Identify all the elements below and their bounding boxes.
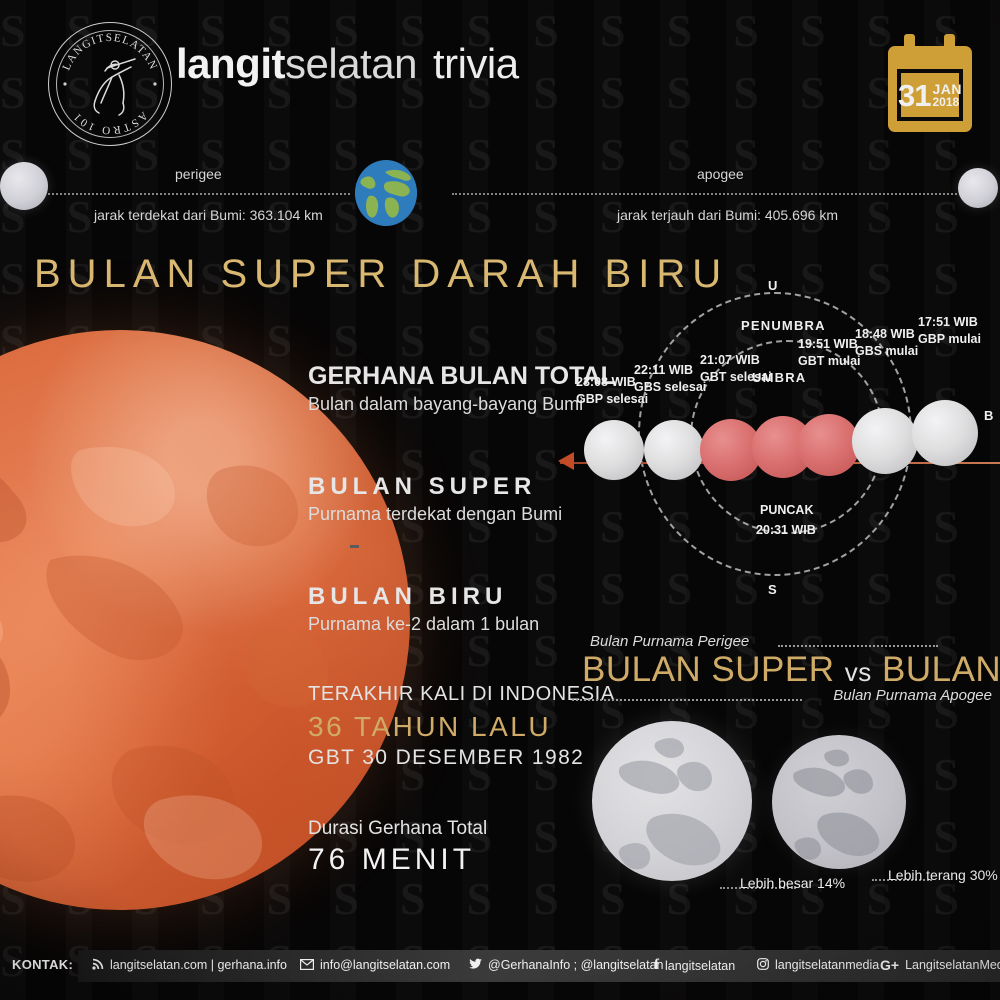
footer-item-label: @GerhanaInfo ; @langitselatan (488, 958, 663, 972)
fact-heading: BULAN BIRU (308, 583, 539, 611)
footer-item-email[interactable]: info@langitselatan.com (300, 958, 450, 972)
brand-title: langitselatantrivia (176, 40, 519, 88)
penumbra-label: PENUMBRA (741, 318, 826, 333)
langitselatan-logo-seal: LANGITSELATAN ASTRO 101 (48, 22, 172, 146)
apogee-caption: jarak terjauh dari Bumi: 405.696 km (617, 207, 838, 223)
axis-label-east: B (984, 408, 994, 423)
fact-subtitle: Purnama ke-2 dalam 1 bulan (308, 614, 539, 635)
calendar-window: 31 JAN 2018 (897, 69, 963, 121)
infographic-poster: SSSSSSSSSSSSSSSSSSSSSSSSSSSSSSSSSSSSSSSS… (0, 0, 1000, 1000)
eclipse-moon-phase-5 (798, 414, 860, 476)
eclipse-moon-phase-2 (644, 420, 704, 480)
google-plus-icon: G+ (880, 958, 899, 972)
calendar-body: 31 JAN 2018 (888, 46, 972, 132)
axis-label-south: S (768, 582, 778, 597)
fact-block-bulan-super: BULAN SUPER Purnama terdekat dengan Bumi (308, 473, 562, 525)
envelope-icon (300, 959, 314, 972)
calendar-month: JAN (932, 82, 962, 96)
footer-item-instagram[interactable]: langitselatanmedia (757, 958, 879, 972)
calendar-icon: 31 JAN 2018 (888, 34, 972, 132)
apogee-dash-line (452, 193, 968, 195)
comparison-title: BULAN SUPER vs BULAN MINI (582, 650, 1000, 690)
perigee-moon-icon (0, 162, 48, 210)
note-left: Lebih besar 14% (740, 875, 845, 891)
rss-icon (92, 958, 104, 972)
footer-item-label: langitselatanmedia (775, 958, 879, 972)
peak-label: PUNCAK (760, 502, 813, 519)
comparison-title-right: BULAN MINI (882, 650, 1000, 689)
comparison-dashed-bottom (572, 699, 802, 701)
brand-bold: langit (176, 40, 285, 87)
phase-label-4: 19:51 WIBGBT mulai (798, 336, 861, 370)
comparison-title-vs: vs (845, 657, 872, 687)
apogee-label: apogee (697, 166, 744, 182)
perigee-apogee-band: perigee jarak terdekat dari Bumi: 363.10… (0, 150, 1000, 240)
phase-label-3: 21:07 WIBGBT selesai (700, 352, 772, 386)
calendar-year: 2018 (932, 96, 962, 108)
perigee-label: perigee (175, 166, 222, 182)
earth-globe-icon (355, 160, 417, 226)
minimoon-disc (772, 735, 906, 869)
footer-item-label: langitselatan.com | gerhana.info (110, 958, 287, 972)
instagram-icon (757, 958, 769, 972)
twitter-icon (468, 958, 482, 972)
phase-label-2: 22:11 WIBGBS selesai (634, 362, 706, 396)
eclipse-moon-phase-1 (584, 420, 644, 480)
footer-item-label: LangitselatanMedia (905, 958, 1000, 972)
footer-contact-bar: KONTAK: langitselatan.com | gerhana.info… (0, 950, 1000, 982)
peak-time: 20:31 WIB (756, 522, 816, 539)
facebook-icon: f (654, 958, 659, 973)
path-arrow-icon (558, 452, 574, 470)
footer-item-googleplus[interactable]: G+ LangitselatanMedia (880, 958, 1000, 972)
svg-text:ASTRO 101: ASTRO 101 (70, 109, 150, 136)
perigee-dash-line (40, 193, 350, 195)
duration-label: Durasi Gerhana Total (308, 818, 487, 840)
fact-block-bulan-biru: BULAN BIRU Purnama ke-2 dalam 1 bulan (308, 583, 539, 635)
duration-value: 76 MENIT (308, 843, 487, 877)
calendar-day: 31 (898, 80, 930, 111)
brand-suffix: trivia (433, 40, 519, 87)
supermoon-disc (592, 721, 752, 881)
footer-item-website[interactable]: langitselatan.com | gerhana.info (92, 958, 287, 972)
comparison-caption-top: Bulan Purnama Perigee (590, 633, 749, 650)
decorative-dash (350, 545, 359, 548)
phase-label-5: 18:48 WIBGBS mulai (855, 326, 918, 360)
axis-label-north: U (768, 278, 778, 293)
comparison-dashed-top (778, 645, 938, 647)
footer-item-label: info@langitselatan.com (320, 958, 450, 972)
brand-light: selatan (285, 40, 417, 87)
eclipse-moon-phase-6 (852, 408, 918, 474)
note-right: Lebih terang 30% (888, 867, 998, 883)
duration-block: Durasi Gerhana Total 76 MENIT (308, 818, 487, 877)
fact-heading: BULAN SUPER (308, 473, 562, 501)
footer-kontak-label: KONTAK: (12, 957, 73, 972)
footer-item-twitter[interactable]: @GerhanaInfo ; @langitselatan (468, 958, 663, 972)
supermoon-vs-minimoon-comparison: Bulan Purnama Perigee BULAN SUPER vs BUL… (560, 625, 1000, 915)
eclipse-moon-phase-7 (912, 400, 978, 466)
phase-label-6: 17:51 WIBGBP mulai (918, 314, 981, 348)
comparison-caption-bottom: Bulan Purnama Apogee (833, 687, 992, 704)
apogee-moon-icon (958, 168, 998, 208)
footer-item-label: langitselatan (665, 959, 735, 973)
fact-subtitle: Purnama terdekat dengan Bumi (308, 504, 562, 525)
comparison-title-left: BULAN SUPER (582, 650, 835, 689)
perigee-caption: jarak terdekat dari Bumi: 363.104 km (94, 207, 323, 223)
eclipse-path-diagram: U S T B PENUMBRA UMBRA 23:08 WIBGBP sele… (560, 270, 1000, 610)
footer-item-facebook[interactable]: f langitselatan (654, 958, 735, 973)
